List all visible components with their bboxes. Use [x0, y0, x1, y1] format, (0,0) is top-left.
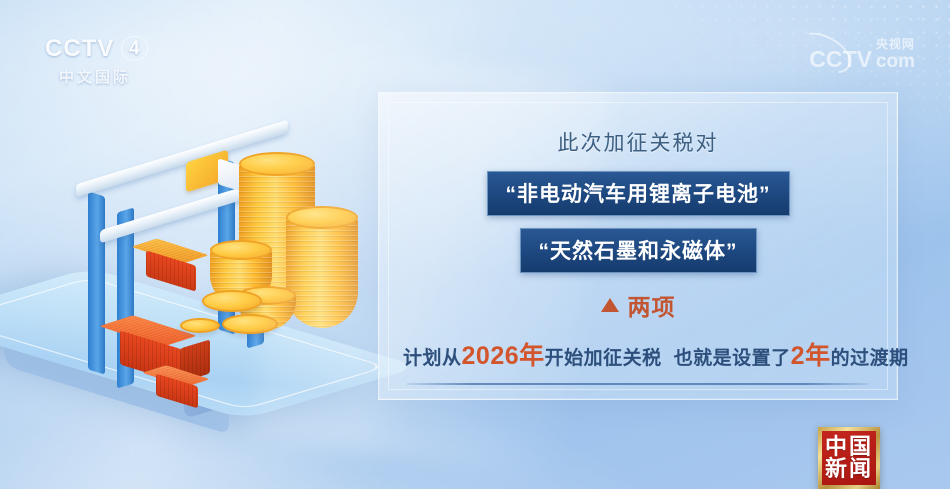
- summary-duration-2-years: 2年: [791, 342, 831, 370]
- tag-box-graphite: “天然石墨和永磁体”: [520, 228, 757, 273]
- summary-part1: 计划从: [403, 348, 462, 369]
- summary-underline: [407, 383, 869, 385]
- info-panel: 此次加征关税对 “非电动汽车用锂离子电池” “天然石墨和永磁体” 两项 计划从2…: [378, 92, 898, 400]
- program-logo-line2: 新闻: [825, 458, 873, 480]
- panel-heading: 此次加征关税对: [403, 127, 873, 157]
- cctv4-logo-text: CCTV: [45, 37, 114, 61]
- broadcast-frame: CCTV 4 中文国际 CCTV 央视网 com: [0, 0, 950, 489]
- port-illustration: [0, 118, 364, 448]
- highlight-row: 两项: [403, 288, 873, 322]
- coin-flat: [222, 314, 278, 334]
- program-logo-line1: 中国: [825, 436, 873, 458]
- summary-part2: 开始加征关税: [545, 348, 662, 369]
- tag-box-battery: “非电动汽车用锂离子电池”: [487, 171, 790, 216]
- summary-year-2026: 2026年: [462, 342, 545, 370]
- crane-leg: [88, 191, 105, 374]
- cctv4-channel-logo: CCTV 4 中文国际: [45, 36, 195, 86]
- watermark-cn-label: 央视网: [876, 38, 915, 50]
- cctv4-wordmark: CCTV 4: [45, 36, 195, 61]
- panel-content: 此次加征关税对 “非电动汽车用锂离子电池” “天然石墨和永磁体” 两项 计划从2…: [379, 93, 897, 399]
- cctv-com-watermark: CCTV 央视网 com: [809, 38, 915, 82]
- summary-part4: 的过渡期: [831, 348, 909, 369]
- coin-stack-medium: [286, 206, 358, 328]
- watermark-right-block: 央视网 com: [876, 38, 915, 71]
- summary-part3: 也就是设置了: [674, 348, 791, 369]
- coin-flat: [202, 290, 262, 312]
- summary-line: 计划从2026年开始加征关税也就是设置了2年的过渡期: [403, 339, 873, 374]
- program-logo-face: 中国 新闻: [822, 431, 876, 485]
- watermark-domain-text: com: [876, 52, 915, 71]
- coin-flat: [180, 318, 220, 333]
- cctv4-subtitle: 中文国际: [45, 66, 195, 87]
- triangle-up-icon: [601, 298, 619, 312]
- program-logo-zhongguo-xinwen: 中国 新闻: [818, 427, 880, 489]
- tag-list: “非电动汽车用锂离子电池” “天然石墨和永磁体”: [403, 157, 873, 273]
- cctv4-channel-number: 4: [121, 36, 148, 61]
- highlight-count-label: 两项: [628, 288, 676, 322]
